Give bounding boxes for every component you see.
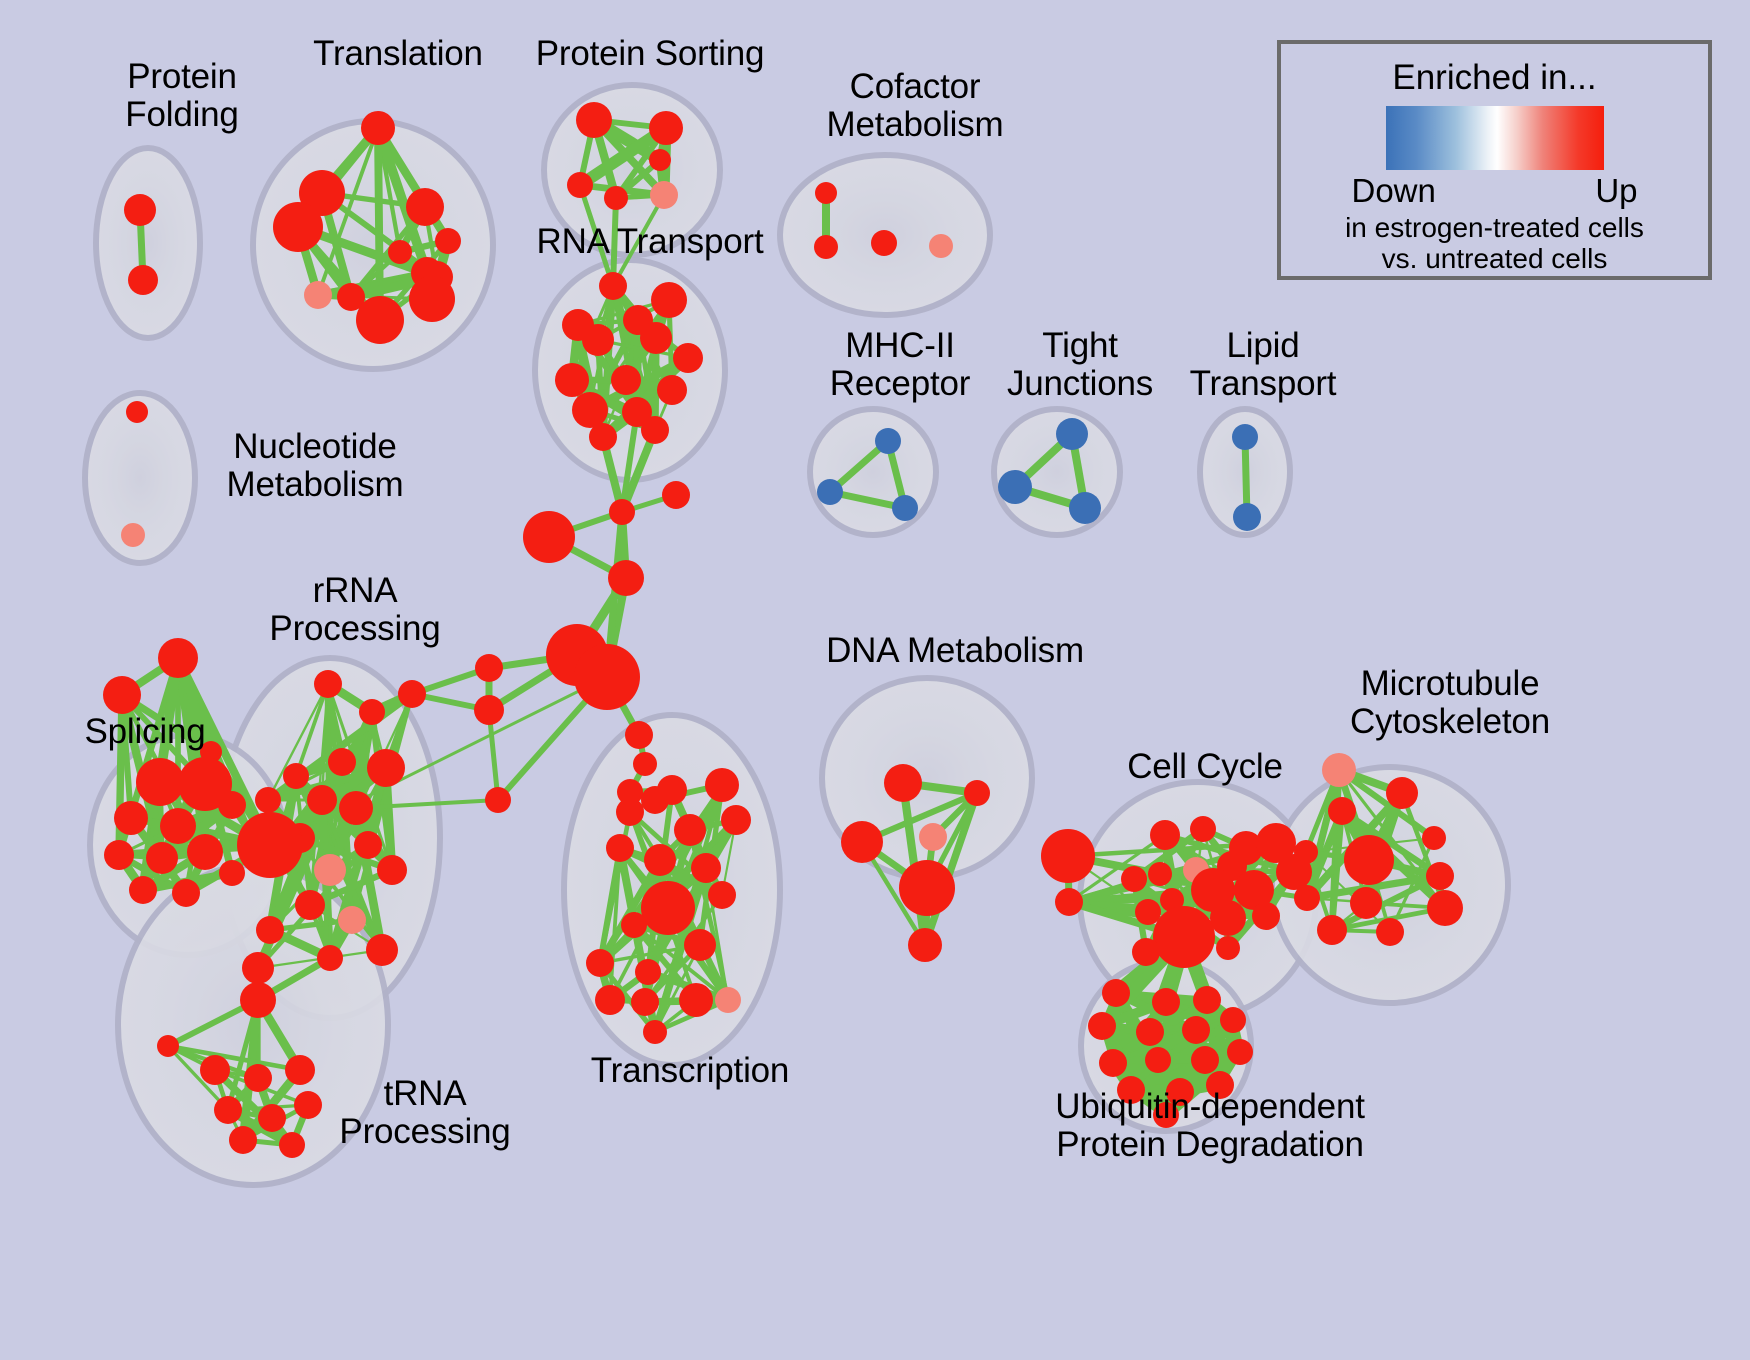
cluster-label-dna-metabolism: DNA Metabolism [805,632,1105,670]
cluster-label-microtubule-cytoskeleton: Microtubule Cytoskeleton [1300,665,1600,741]
network-node [606,834,634,862]
network-node [657,775,687,805]
network-node [1056,418,1088,450]
network-node [884,764,922,802]
network-node [354,831,382,859]
network-node [485,787,511,813]
network-node [398,680,426,708]
network-node [146,842,178,874]
network-node [317,945,343,971]
network-node [295,890,325,920]
network-node [1322,753,1356,787]
network-node [633,752,657,776]
network-node [338,906,366,934]
network-node [1041,829,1095,883]
network-node [1232,424,1258,450]
network-node [314,854,346,886]
network-node [367,749,405,787]
network-node [214,1096,242,1124]
network-node [641,416,669,444]
network-node [1191,1046,1219,1074]
network-node [964,780,990,806]
network-node [1294,885,1320,911]
network-node [691,853,721,883]
network-node [1152,988,1180,1016]
network-node [124,194,156,226]
network-node [475,654,503,682]
network-node [1102,979,1130,1007]
network-node [256,916,284,944]
network-node [715,987,741,1013]
network-node [644,844,676,876]
network-node [1099,1049,1127,1077]
network-node [929,234,953,258]
network-node [1193,986,1221,1014]
cluster-label-transcription: Transcription [565,1052,815,1090]
network-node [366,934,398,966]
network-node [1328,797,1356,825]
network-node [255,787,281,813]
network-node [160,808,196,844]
network-node [1132,938,1160,966]
network-node [674,814,706,846]
legend-title: Enriched in... [1392,58,1596,98]
network-node [1216,936,1240,960]
network-node [1227,1039,1253,1065]
network-node [474,695,504,725]
network-node [567,172,593,198]
network-node [273,202,323,252]
network-node [359,699,385,725]
network-node [657,375,687,405]
network-node [314,670,342,698]
network-node [892,495,918,521]
network-node [244,1064,272,1092]
network-node [595,985,625,1015]
network-node [304,281,332,309]
network-node [1190,816,1216,842]
network-node [279,1132,305,1158]
cluster-label-protein-sorting: Protein Sorting [510,35,790,73]
network-node [841,821,883,863]
network-node [621,912,647,938]
network-node [625,721,653,749]
cluster-label-cofactor-metabolism: Cofactor Metabolism [790,68,1040,144]
network-node [104,840,134,870]
network-node [237,812,303,878]
network-node [608,560,644,596]
network-node [129,876,157,904]
network-node [523,511,575,563]
network-node [229,1126,257,1154]
network-node [649,149,671,171]
network-node [1317,915,1347,945]
network-node [172,879,200,907]
network-node [240,982,276,1018]
network-node [641,881,695,935]
network-node [218,791,246,819]
network-node [586,949,614,977]
cluster-label-translation: Translation [288,35,508,73]
network-node [662,481,690,509]
network-node [187,834,223,870]
network-node [815,182,837,204]
network-node [157,1035,179,1057]
network-node [611,365,641,395]
network-node [555,363,589,397]
network-node [1136,1018,1164,1046]
network-node [1210,900,1246,936]
cluster-label-mhc-ii-receptor: MHC-II Receptor [795,327,1005,403]
network-node [1135,899,1161,925]
network-node [576,102,612,138]
network-node [356,296,404,344]
network-node [361,111,395,145]
network-node [705,768,739,802]
network-node [814,235,838,259]
network-node [435,228,461,254]
network-node [871,230,897,256]
network-node [1121,866,1147,892]
network-node [219,860,245,886]
network-node [136,758,184,806]
network-node [1252,902,1280,930]
network-node [283,763,309,789]
network-node [1386,777,1418,809]
legend-end-labels: Down Up [1350,172,1640,210]
network-node [339,791,373,825]
network-node [1150,820,1180,850]
network-node [1148,862,1172,886]
network-node [121,523,145,547]
cluster-label-ubiquitin-degradation: Ubiquitin-dependent Protein Degradation [1000,1088,1420,1164]
cluster-label-cell-cycle: Cell Cycle [1095,748,1315,786]
network-node [817,479,843,505]
network-node [406,188,444,226]
network-node [1088,1012,1116,1040]
cluster-label-rrna-processing: rRNA Processing [240,572,470,648]
network-node [998,470,1032,504]
figure-canvas: Protein Folding Translation Protein Sort… [0,0,1750,1360]
network-node [673,343,703,373]
legend-subtitle: in estrogen-treated cells vs. untreated … [1345,212,1644,275]
network-node [1344,835,1394,885]
network-node [242,952,274,984]
network-node [631,988,659,1016]
network-node [1220,1007,1246,1033]
network-node [684,929,716,961]
network-node [158,638,198,678]
cluster-label-rna-transport: RNA Transport [510,223,790,261]
cluster-label-nucleotide-metabolism: Nucleotide Metabolism [190,428,440,504]
network-node [604,186,628,210]
network-node [1233,503,1261,531]
cluster-label-lipid-transport: Lipid Transport [1158,327,1368,403]
halo-protein-folding [96,148,200,338]
network-node [875,428,901,454]
network-node [1294,840,1318,864]
network-node [708,881,736,909]
network-node [1182,1016,1210,1044]
network-node [1426,862,1454,890]
network-node [1145,1047,1171,1073]
cluster-label-protein-folding: Protein Folding [82,58,282,134]
halo-mhc-ii [810,409,936,535]
network-node [650,181,678,209]
cluster-label-tight-junctions: Tight Junctions [975,327,1185,403]
network-node [899,860,955,916]
network-node [1422,826,1446,850]
network-node [1055,888,1083,916]
legend-down-label: Down [1352,172,1436,210]
cluster-label-trna-processing: tRNA Processing [310,1075,540,1151]
network-node [649,111,683,145]
network-node [258,1104,286,1132]
network-node [643,1020,667,1044]
network-node [919,823,947,851]
network-node [582,324,614,356]
network-node [200,1055,230,1085]
network-node [721,805,751,835]
cluster-label-splicing: Splicing [55,713,235,751]
network-node [388,240,412,264]
legend-up-label: Up [1595,172,1637,210]
network-node [1069,492,1101,524]
network-node [126,401,148,423]
network-node [114,801,148,835]
network-node [574,644,640,710]
network-node [103,676,141,714]
network-node [589,423,617,451]
network-node [616,798,644,826]
network-node [307,785,337,815]
legend-box: Enriched in... Down Up in estrogen-treat… [1277,40,1712,280]
network-node [640,322,672,354]
network-node [572,392,608,428]
network-node [1376,918,1404,946]
network-node [908,928,942,962]
network-node [328,748,356,776]
network-node [1427,890,1463,926]
network-node [1153,906,1215,968]
network-node [651,282,687,318]
network-node [128,265,158,295]
network-node [679,983,713,1017]
network-node [609,499,635,525]
network-node [409,276,455,322]
network-node [599,272,627,300]
network-node [377,855,407,885]
network-node [1350,887,1382,919]
legend-color-bar [1386,106,1604,170]
network-node [635,959,661,985]
